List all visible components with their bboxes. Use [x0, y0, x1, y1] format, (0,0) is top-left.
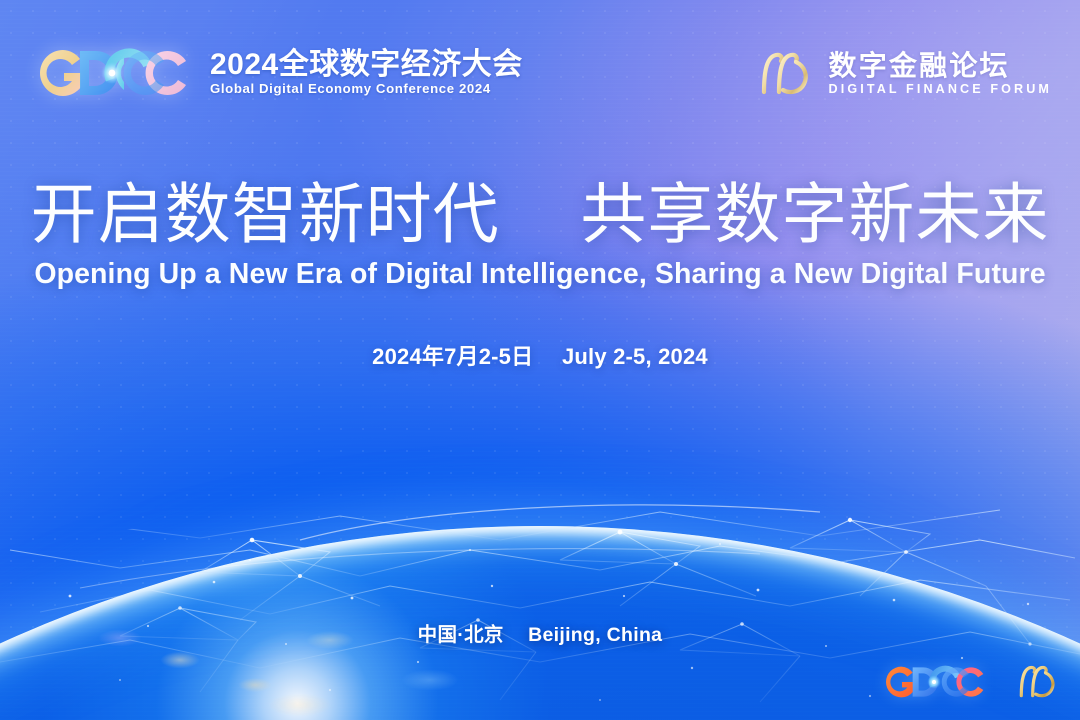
header: 2024全球数字经济大会 Global Digital Economy Conf… [0, 0, 1080, 130]
hero-block: 开启数智新时代 共享数字新未来 Opening Up a New Era of … [0, 178, 1080, 371]
event-date-cn: 2024年7月2-5日 [372, 344, 533, 369]
headline-cn-part2: 共享数字新未来 [580, 177, 1049, 251]
headline-cn-part1: 开启数智新时代 [31, 177, 500, 251]
gdec-monogram-icon [34, 45, 196, 101]
footer-ff-monogram-icon [1016, 662, 1060, 702]
footer-logos [882, 662, 1060, 702]
ff-monogram-icon [757, 48, 815, 100]
dff-logo-lockup: 数字金融论坛 DIGITAL FINANCE FORUM [757, 48, 1052, 100]
event-date-en: July 2-5, 2024 [562, 344, 708, 369]
headline-en: Opening Up a New Era of Digital Intellig… [0, 258, 1080, 291]
event-location: 中国·北京 Beijing, China [0, 618, 1080, 647]
dff-logo-text: 数字金融论坛 DIGITAL FINANCE FORUM [829, 52, 1052, 96]
location-en: Beijing, China [528, 624, 662, 646]
conference-backdrop: 2024全球数字经济大会 Global Digital Economy Conf… [0, 0, 1080, 720]
headline-cn: 开启数智新时代 共享数字新未来 [0, 178, 1080, 252]
event-date: 2024年7月2-5日 July 2-5, 2024 [0, 339, 1080, 371]
gdec-logo-text: 2024全球数字经济大会 Global Digital Economy Conf… [210, 50, 523, 95]
gdec-logo-lockup: 2024全球数字经济大会 Global Digital Economy Conf… [34, 45, 523, 101]
gdec-title-cn: 2024全球数字经济大会 [210, 50, 523, 81]
location-cn: 中国·北京 [418, 624, 504, 646]
dff-title-cn: 数字金融论坛 [829, 52, 1052, 81]
footer-gdec-monogram-icon [882, 663, 990, 701]
gdec-title-en: Global Digital Economy Conference 2024 [210, 82, 523, 96]
dff-title-en: DIGITAL FINANCE FORUM [829, 83, 1052, 96]
